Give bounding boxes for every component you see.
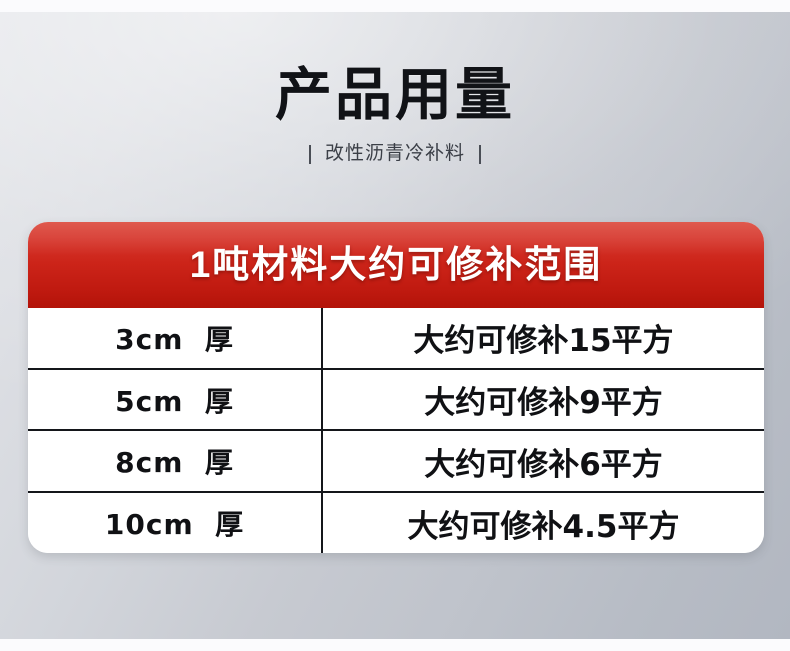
thickness-value: 10cm 厚: [28, 492, 322, 553]
subtitle-divider-right-icon: [479, 145, 481, 164]
coverage-table: 3cm 厚 大约可修补15平方 5cm 厚 大约可修补9平方 8cm 厚 大约可…: [28, 308, 764, 553]
table-row: 3cm 厚 大约可修补15平方: [28, 308, 764, 369]
coverage-value: 大约可修补15平方: [322, 308, 764, 369]
thickness-value: 8cm 厚: [28, 430, 322, 492]
coverage-card-banner-title: 1吨材料大约可修补范围: [190, 243, 603, 287]
coverage-card-banner: 1吨材料大约可修补范围: [28, 222, 764, 308]
subtitle-divider-left-icon: [309, 145, 311, 164]
thickness-value: 3cm 厚: [28, 308, 322, 369]
coverage-value: 大约可修补9平方: [322, 369, 764, 431]
page-subtitle: 改性沥青冷补料: [325, 142, 465, 166]
coverage-value: 大约可修补4.5平方: [322, 492, 764, 553]
heading-block: 产品用量 改性沥青冷补料: [0, 62, 790, 166]
coverage-card: 1吨材料大约可修补范围 3cm 厚 大约可修补15平方 5cm 厚 大约可修补9…: [28, 222, 764, 553]
page-title: 产品用量: [0, 62, 790, 128]
table-row: 10cm 厚 大约可修补4.5平方: [28, 492, 764, 553]
product-usage-infographic: 产品用量 改性沥青冷补料 1吨材料大约可修补范围 3cm 厚 大约可修补15平方…: [0, 0, 790, 651]
table-row: 5cm 厚 大约可修补9平方: [28, 369, 764, 431]
subtitle-row: 改性沥青冷补料: [0, 142, 790, 166]
coverage-value: 大约可修补6平方: [322, 430, 764, 492]
thickness-value: 5cm 厚: [28, 369, 322, 431]
table-row: 8cm 厚 大约可修补6平方: [28, 430, 764, 492]
